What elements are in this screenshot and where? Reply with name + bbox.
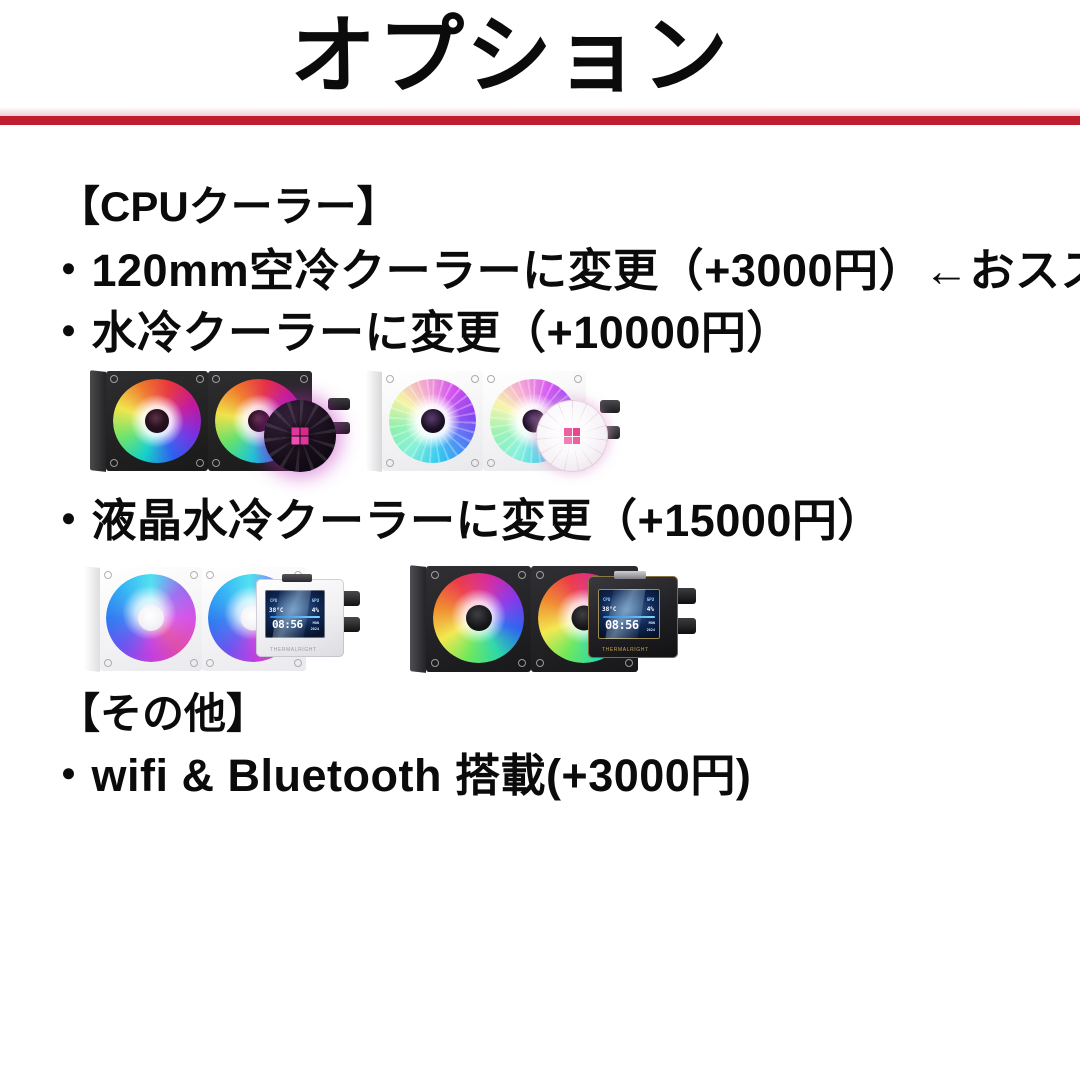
lcd-meta-top: MON bbox=[649, 621, 655, 625]
screw-icon bbox=[431, 571, 439, 579]
screw-icon bbox=[110, 375, 118, 383]
tube-barb bbox=[600, 400, 620, 413]
lcd-display-white[interactable]: CPU 38°C GPU 4% 08:56 MON 2024 bbox=[265, 590, 325, 638]
screw-icon bbox=[518, 659, 526, 667]
lcd-cpu-label: CPU bbox=[603, 597, 610, 602]
lcd-clock: 08:56 bbox=[272, 618, 303, 631]
lcd-cpu-label: CPU bbox=[270, 598, 277, 603]
thermalright-logo-icon bbox=[292, 428, 309, 445]
page-title: オプション bbox=[0, 4, 1080, 108]
lcd-cpu-value: 38°C bbox=[269, 607, 283, 614]
screw-icon bbox=[206, 659, 214, 667]
screw-icon bbox=[518, 571, 526, 579]
screw-icon bbox=[212, 375, 220, 383]
pump-head-lcd-white: CPU 38°C GPU 4% 08:56 MON 2024 THERMALRI… bbox=[256, 579, 344, 657]
rgb-fan bbox=[106, 574, 196, 662]
pump-head-lcd-black: CPU 38°C GPU 4% 08:56 MON 2024 THERMALRI… bbox=[588, 576, 678, 658]
screw-icon bbox=[431, 659, 439, 667]
screw-icon bbox=[104, 659, 112, 667]
screw-icon bbox=[196, 459, 204, 467]
lcd-meta-top: MON bbox=[313, 621, 319, 625]
screw-icon bbox=[190, 571, 198, 579]
lcd-cpu-value: 38°C bbox=[602, 606, 616, 613]
screw-icon bbox=[487, 375, 495, 383]
screw-icon bbox=[300, 375, 308, 383]
pump-head-white bbox=[536, 400, 608, 472]
product-image-aio-white bbox=[364, 360, 626, 480]
screw-icon bbox=[212, 459, 220, 467]
pump-top-connector bbox=[282, 574, 312, 582]
screw-icon bbox=[110, 459, 118, 467]
rgb-fan bbox=[433, 573, 524, 663]
screw-icon bbox=[487, 459, 495, 467]
lcd-gpu-label: GPU bbox=[312, 598, 319, 603]
lcd-gpu-value: 4% bbox=[647, 606, 654, 613]
screw-icon bbox=[386, 375, 394, 383]
product-image-lcd-white: CPU 38°C GPU 4% 08:56 MON 2024 THERMALRI… bbox=[82, 555, 372, 685]
tube-barb bbox=[328, 398, 350, 410]
screw-icon bbox=[471, 459, 479, 467]
screw-icon bbox=[104, 571, 112, 579]
screw-icon bbox=[386, 459, 394, 467]
lcd-meta-bottom: 2024 bbox=[647, 628, 655, 632]
title-rule-glow bbox=[0, 107, 1080, 116]
screw-icon bbox=[294, 659, 302, 667]
screw-icon bbox=[196, 375, 204, 383]
lcd-meta-bottom: 2024 bbox=[311, 627, 319, 631]
screw-icon bbox=[536, 659, 544, 667]
screw-icon bbox=[471, 375, 479, 383]
pump-head-black bbox=[264, 400, 336, 472]
lcd-clock: 08:56 bbox=[605, 618, 639, 632]
pump-top-connector bbox=[614, 571, 646, 579]
thermalright-logo-icon bbox=[564, 428, 580, 444]
rgb-fan bbox=[113, 379, 201, 463]
slide-content: 【CPUクーラー】 ・120mm空冷クーラーに変更（+3000円）←おススメ ・… bbox=[0, 150, 1080, 1080]
lcd-gpu-label: GPU bbox=[647, 597, 654, 602]
title-divider-rule bbox=[0, 116, 1080, 125]
screw-icon bbox=[536, 571, 544, 579]
lcd-gpu-value: 4% bbox=[312, 607, 319, 614]
section-heading-other: 【その他】 bbox=[58, 690, 268, 738]
screw-icon bbox=[574, 375, 582, 383]
option-air-cooler-120mm[interactable]: ・120mm空冷クーラーに変更（+3000円）←おススメ bbox=[46, 245, 1080, 297]
brand-label: THERMALRIGHT bbox=[602, 647, 649, 653]
screw-icon bbox=[625, 659, 633, 667]
product-image-lcd-black: CPU 38°C GPU 4% 08:56 MON 2024 THERMALRI… bbox=[408, 552, 704, 688]
screw-icon bbox=[190, 659, 198, 667]
product-image-aio-black bbox=[88, 360, 356, 480]
section-heading-cpu-cooler: 【CPUクーラー】 bbox=[58, 183, 399, 231]
option-liquid-cooler[interactable]: ・水冷クーラーに変更（+10000円） bbox=[46, 307, 792, 359]
option-wifi-bluetooth[interactable]: ・wifi & Bluetooth 搭載(+3000円) bbox=[46, 750, 751, 802]
lcd-display-black[interactable]: CPU 38°C GPU 4% 08:56 MON 2024 bbox=[598, 589, 660, 639]
screw-icon bbox=[206, 571, 214, 579]
option-lcd-liquid-cooler[interactable]: ・液晶水冷クーラーに変更（+15000円） bbox=[46, 495, 883, 547]
rgb-fan bbox=[389, 379, 476, 463]
brand-label: THERMALRIGHT bbox=[270, 647, 317, 653]
